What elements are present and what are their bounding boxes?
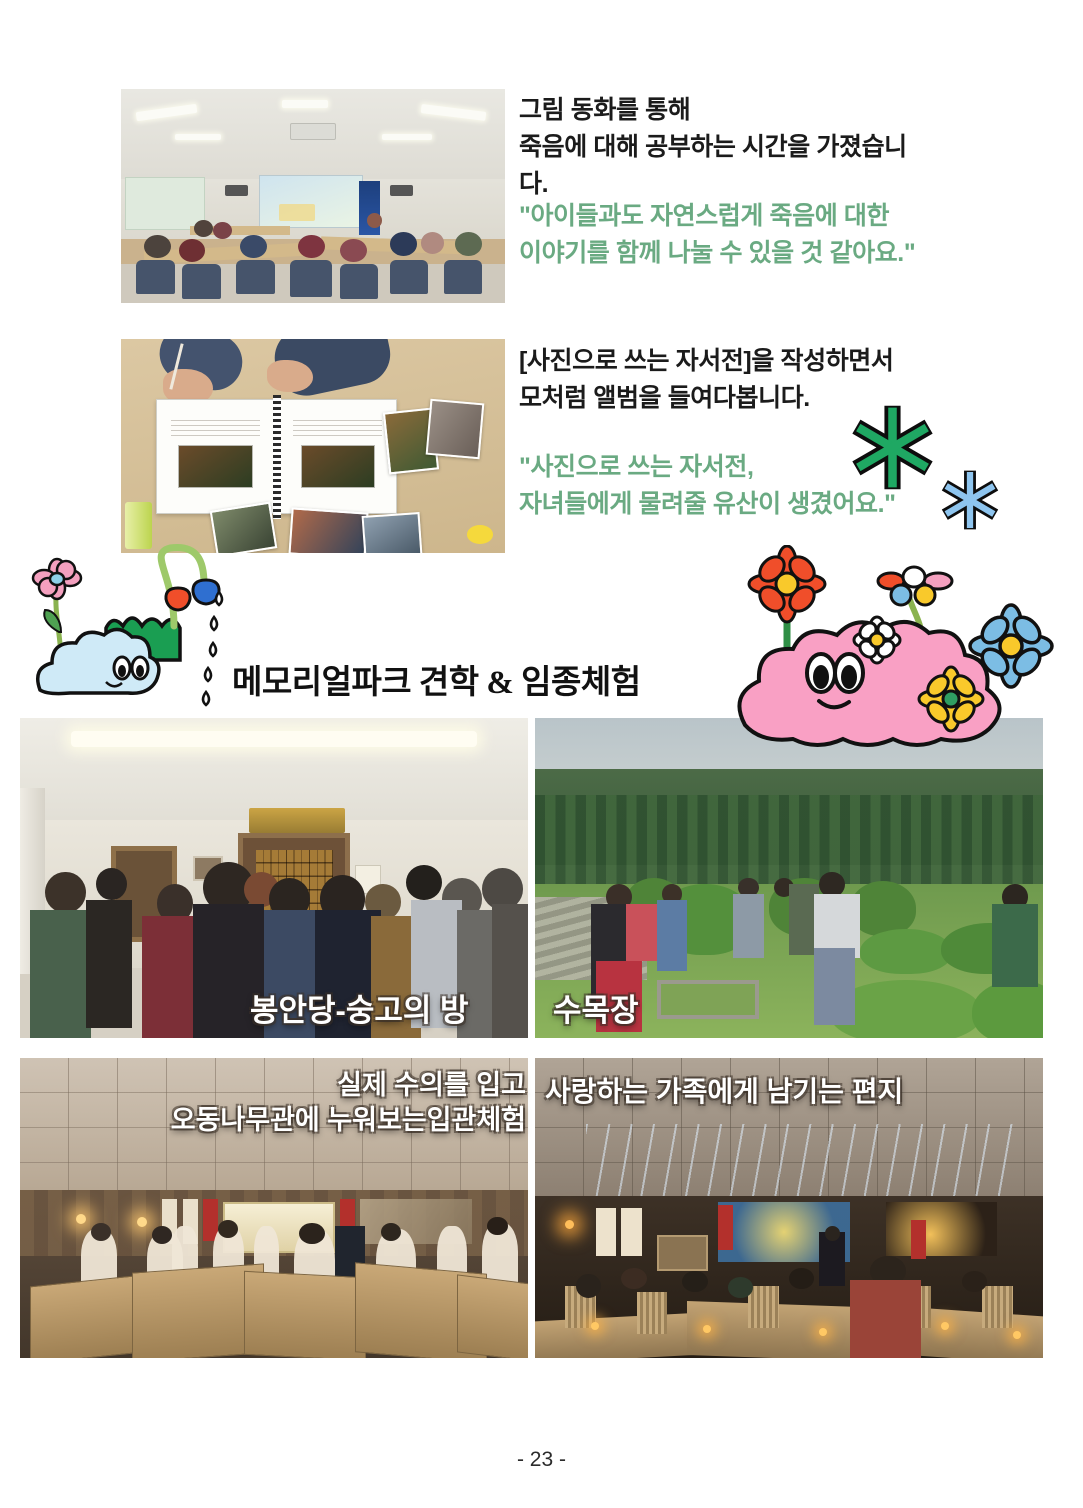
caption-letter-to-family: 사랑하는 가족에게 남기는 편지	[545, 1070, 903, 1110]
page-number: - 23 -	[0, 1448, 1083, 1472]
quote-block-autobiography: "사진으로 쓰는 자서전, 자녀들에게 물려줄 유산이 생겼어요."	[519, 449, 919, 523]
bellflower-blue-icon	[193, 580, 219, 604]
caption-tree-burial-garden: 수목장	[553, 985, 639, 1030]
flower-white-icon	[854, 617, 900, 663]
flower-multicolor-icon	[878, 567, 952, 605]
flower-pink-icon	[33, 559, 81, 599]
quote-block-storybook: "아이들과도 자연스럽게 죽음에 대한 이야기를 함께 나눌 수 있을 것 같아…	[519, 198, 919, 272]
newsletter-page: 그림 동화를 통해 죽음에 대해 공부하는 시간을 가졌습니다. "아이들과도 …	[0, 0, 1083, 1508]
flower-blue-icon	[970, 605, 1052, 687]
headline-storybook: 그림 동화를 통해 죽음에 대해 공부하는 시간을 가졌습니다.	[519, 92, 919, 203]
photo-classroom-lecture	[121, 89, 505, 303]
caption-coffin-experience: 실제 수의를 입고 오동나무관에 누워보는입관체험	[120, 1068, 526, 1137]
headline-autobiography: [사진으로 쓰는 자서전]을 작성하면서 모처럼 앨범을 들여다봅니다.	[519, 343, 919, 417]
flower-orange-icon	[749, 546, 825, 622]
photo-photo-autobiography-album	[121, 339, 505, 553]
quote-storybook: "아이들과도 자연스럽게 죽음에 대한 이야기를 함께 나눌 수 있을 것 같아…	[519, 198, 919, 272]
decoration-blue-cloud-cluster	[28, 540, 258, 720]
text-block-storybook: 그림 동화를 통해 죽음에 대해 공부하는 시간을 가졌습니다.	[519, 92, 919, 203]
text-block-autobiography: [사진으로 쓰는 자서전]을 작성하면서 모처럼 앨범을 들여다봅니다.	[519, 343, 919, 417]
raindrops-icon	[203, 592, 222, 705]
bellflower-red-icon	[166, 588, 190, 610]
caption-columbarium: 봉안당-숭고의 방	[250, 985, 469, 1030]
page-title: 메모리얼파크 견학 & 임종체험	[232, 655, 641, 703]
asterisk-blue-icon	[935, 465, 1005, 535]
quote-autobiography: "사진으로 쓰는 자서전, 자녀들에게 물려줄 유산이 생겼어요."	[519, 449, 919, 523]
